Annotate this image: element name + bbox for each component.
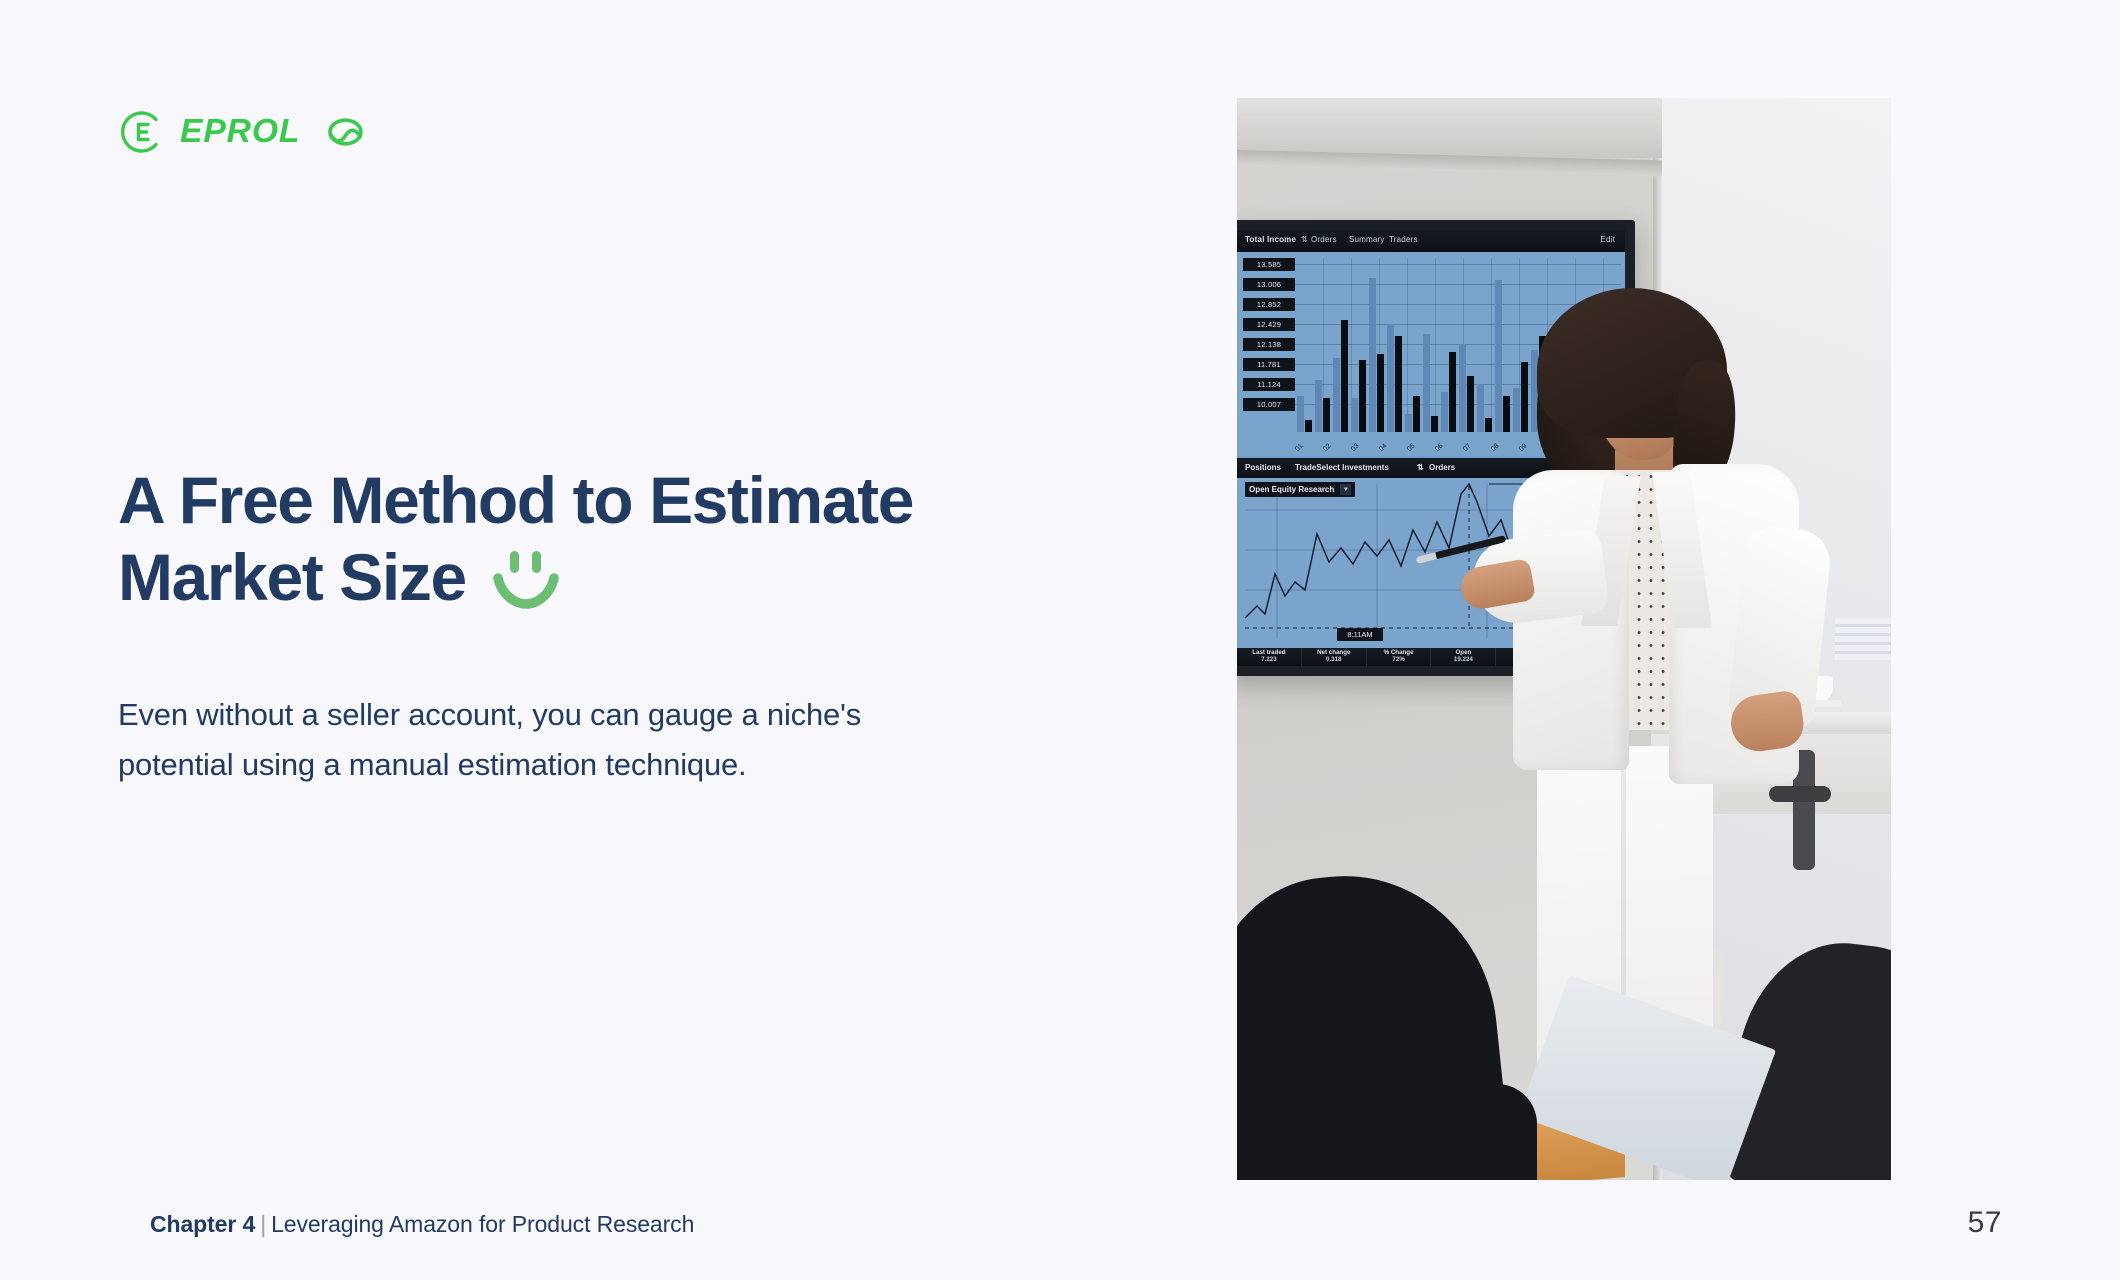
screen-tab-total-income: Total Income: [1245, 235, 1296, 244]
chart-ytick: 12.138: [1243, 338, 1295, 351]
screen-time-marker: 8:11AM: [1337, 628, 1383, 641]
photo-ceiling: [1237, 98, 1662, 158]
smiley-face-icon: [488, 547, 564, 609]
page-subtitle: Even without a seller account, you can g…: [118, 690, 1038, 790]
svg-text:EPROL: EPROL: [180, 113, 300, 150]
headline-line-2: Market Size: [118, 539, 466, 616]
headline-line-1: A Free Method to Estimate: [118, 462, 1078, 539]
screen-tab-tradeselect: TradeSelect Investments: [1295, 463, 1389, 472]
chart-xtick: 01: [1294, 443, 1304, 453]
sort-updown-icon: ⇅: [1301, 235, 1308, 244]
eprolo-circle-e-mark: [118, 108, 166, 156]
chapter-title: Leveraging Amazon for Product Research: [271, 1211, 694, 1237]
stat-cell: % Change 72%: [1367, 648, 1432, 666]
breadcrumb-separator: |: [260, 1211, 266, 1237]
chart-ytick: 11.124: [1243, 378, 1295, 391]
page-footer: Chapter 4|Leveraging Amazon for Product …: [0, 1206, 2120, 1240]
chart-xtick: 08: [1490, 443, 1500, 453]
chart-ytick: 12.852: [1243, 298, 1295, 311]
eprolo-logo: EPROL: [118, 108, 371, 156]
screen-top-tabbar: Total Income ⇅ Orders Summary Traders Ed…: [1237, 230, 1625, 252]
stat-cell: Open 19.224: [1431, 648, 1496, 666]
chart-xtick: 04: [1378, 443, 1388, 453]
chart-ytick: 10.007: [1243, 398, 1295, 411]
chart-xtick: 07: [1462, 443, 1472, 453]
photo-foreground-shoulder-left: [1237, 1084, 1537, 1180]
screen-tab-traders: Traders: [1389, 235, 1418, 244]
eprolo-wordmark: EPROL: [180, 112, 371, 152]
chart-ytick: 13.585: [1243, 258, 1295, 271]
screen-dropdown-label: Open Equity Research: [1249, 485, 1334, 494]
screen-equity-dropdown[interactable]: Open Equity Research ▼: [1245, 482, 1355, 497]
chart-xtick: 05: [1406, 443, 1416, 453]
stat-cell: Last traded 7.223: [1237, 648, 1302, 666]
screen-tab-orders-bottom: Orders: [1429, 463, 1455, 472]
breadcrumb: Chapter 4|Leveraging Amazon for Product …: [150, 1211, 694, 1238]
page-title: A Free Method to Estimate Market Size: [118, 462, 1078, 616]
screen-tab-orders: Orders: [1311, 235, 1337, 244]
chart-xtick: 03: [1350, 443, 1360, 453]
chart-xtick: 06: [1434, 443, 1444, 453]
chart-xtick: 02: [1322, 443, 1332, 453]
headline-line-2-row: Market Size: [118, 539, 1078, 616]
screen-tab-positions: Positions: [1245, 463, 1281, 472]
chart-ytick: 12.429: [1243, 318, 1295, 331]
photo-chair-arm: [1769, 786, 1831, 802]
stat-cell: Net change 0.318: [1302, 648, 1367, 666]
presentation-photo: Total Income ⇅ Orders Summary Traders Ed…: [1237, 98, 1891, 1180]
subtitle-line-2: potential using a manual estimation tech…: [118, 740, 1038, 790]
chevron-down-icon: ▼: [1340, 484, 1351, 495]
screen-edit-button: Edit: [1600, 235, 1615, 244]
sort-updown-icon: ⇅: [1417, 463, 1424, 472]
subtitle-line-1: Even without a seller account, you can g…: [118, 690, 1038, 740]
photo-books: [1835, 618, 1891, 660]
chart-xtick: 09: [1518, 443, 1528, 453]
page-number: 57: [1968, 1206, 2002, 1240]
chapter-label: Chapter 4: [150, 1211, 255, 1237]
screen-tab-summary: Summary: [1349, 235, 1385, 244]
chart-ytick: 13.006: [1243, 278, 1295, 291]
chart-ytick: 11.781: [1243, 358, 1295, 371]
